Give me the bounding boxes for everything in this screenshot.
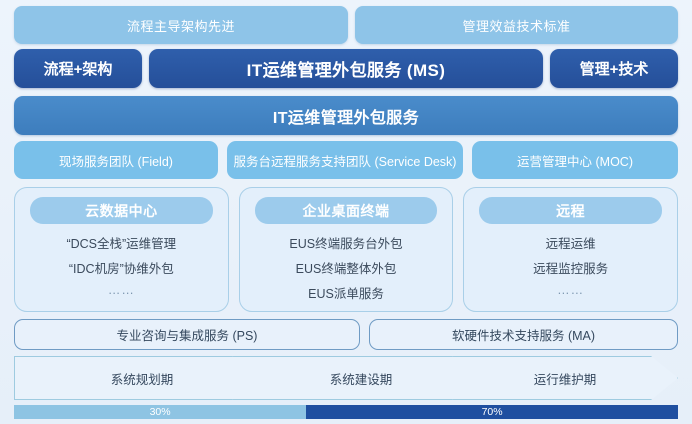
service-card-cloud-datacenter[interactable]: 云数据中心 “DCS全栈”运维管理 “IDC机房”协维外包 …… [14, 187, 229, 312]
top-banner-label-1: 管理效益技术标准 [462, 16, 570, 35]
service-card-remote[interactable]: 远程 远程运维 远程监控服务 …… [463, 187, 678, 312]
phase-label-operation: 运行维护期 [534, 369, 597, 388]
phases-row: 系统规划期 系统建设期 运行维护期 [14, 356, 678, 400]
phase-label-planning: 系统规划期 [111, 369, 174, 388]
team-label-field: 现场服务团队 (Field) [59, 151, 173, 170]
top-banner-label-0: 流程主导架构先进 [127, 16, 235, 35]
service-card-line-1-1: EUS终端整体外包 [296, 258, 397, 277]
top-banner-item-0[interactable]: 流程主导架构先进 [14, 6, 348, 44]
service-card-body-1: EUS终端服务台外包 EUS终端整体外包 EUS派单服务 [289, 233, 402, 302]
service-card-header-2: 远程 [479, 197, 662, 224]
service-card-line-0-1: “IDC机房”协维外包 [69, 258, 174, 277]
phase-chevron-operation[interactable]: 运行维护期 [452, 356, 678, 400]
ms-left-label: 流程+架构 [44, 58, 113, 79]
service-card-line-2-0: 远程运维 [546, 233, 596, 252]
service-card-title-0: 云数据中心 [85, 201, 158, 221]
top-banner-item-1[interactable]: 管理效益技术标准 [355, 6, 678, 44]
team-item-moc[interactable]: 运营管理中心 (MOC) [472, 141, 678, 179]
ms-row: 流程+架构 IT运维管理外包服务 (MS) 管理+技术 [0, 49, 692, 88]
service-cards-row: 云数据中心 “DCS全栈”运维管理 “IDC机房”协维外包 …… 企业桌面终端 … [0, 187, 692, 312]
phase-label-construction: 系统建设期 [330, 369, 393, 388]
service-card-enterprise-desktop[interactable]: 企业桌面终端 EUS终端服务台外包 EUS终端整体外包 EUS派单服务 [239, 187, 454, 312]
ms-left-pill[interactable]: 流程+架构 [14, 49, 142, 88]
service-card-title-1: 企业桌面终端 [303, 201, 390, 221]
team-label-service-desk: 服务台远程服务支持团队 (Service Desk) [234, 151, 457, 170]
teams-row: 现场服务团队 (Field) 服务台远程服务支持团队 (Service Desk… [0, 141, 692, 179]
service-card-line-2-1: 远程监控服务 [533, 258, 608, 277]
team-label-moc: 运营管理中心 (MOC) [517, 151, 633, 170]
support-service-ma-label: 软硬件技术支持服务 (MA) [452, 325, 595, 344]
support-service-ps-label: 专业咨询与集成服务 (PS) [117, 325, 258, 344]
service-card-body-2: 远程运维 远程监控服务 …… [533, 233, 608, 297]
progress-segment-right: 70% [306, 405, 678, 419]
phase-chevron-planning[interactable]: 系统规划期 [14, 356, 270, 400]
service-card-title-2: 远程 [556, 201, 585, 221]
service-card-line-1-0: EUS终端服务台外包 [289, 233, 402, 252]
ms-right-label: 管理+技术 [580, 58, 649, 79]
service-card-header-0: 云数据中心 [30, 197, 213, 224]
service-card-more-0: …… [108, 283, 135, 297]
support-services-row: 专业咨询与集成服务 (PS) 软硬件技术支持服务 (MA) [0, 319, 692, 350]
service-band-label: IT运维管理外包服务 [273, 104, 419, 128]
service-band[interactable]: IT运维管理外包服务 [14, 96, 678, 135]
support-service-ma[interactable]: 软硬件技术支持服务 (MA) [369, 319, 678, 350]
progress-bar[interactable]: 30% 70% [14, 405, 678, 419]
team-item-field[interactable]: 现场服务团队 (Field) [14, 141, 218, 179]
progress-label-right: 70% [482, 406, 503, 418]
service-card-line-0-0: “DCS全栈”运维管理 [66, 233, 176, 252]
top-banner-row: 流程主导架构先进 管理效益技术标准 [0, 6, 692, 44]
diagram-root: 流程主导架构先进 管理效益技术标准 流程+架构 IT运维管理外包服务 (MS) … [0, 0, 692, 424]
service-card-line-1-2: EUS派单服务 [308, 283, 384, 302]
ms-right-pill[interactable]: 管理+技术 [550, 49, 678, 88]
ms-center-pill[interactable]: IT运维管理外包服务 (MS) [149, 49, 543, 88]
progress-label-left: 30% [150, 406, 171, 418]
phase-chevron-construction[interactable]: 系统建设期 [232, 356, 490, 400]
service-card-more-2: …… [557, 283, 584, 297]
service-card-header-1: 企业桌面终端 [255, 197, 438, 224]
ms-center-label: IT运维管理外包服务 (MS) [247, 56, 446, 81]
progress-segment-left: 30% [14, 405, 306, 419]
service-card-body-0: “DCS全栈”运维管理 “IDC机房”协维外包 …… [66, 233, 176, 297]
support-service-ps[interactable]: 专业咨询与集成服务 (PS) [14, 319, 360, 350]
team-item-service-desk[interactable]: 服务台远程服务支持团队 (Service Desk) [227, 141, 463, 179]
